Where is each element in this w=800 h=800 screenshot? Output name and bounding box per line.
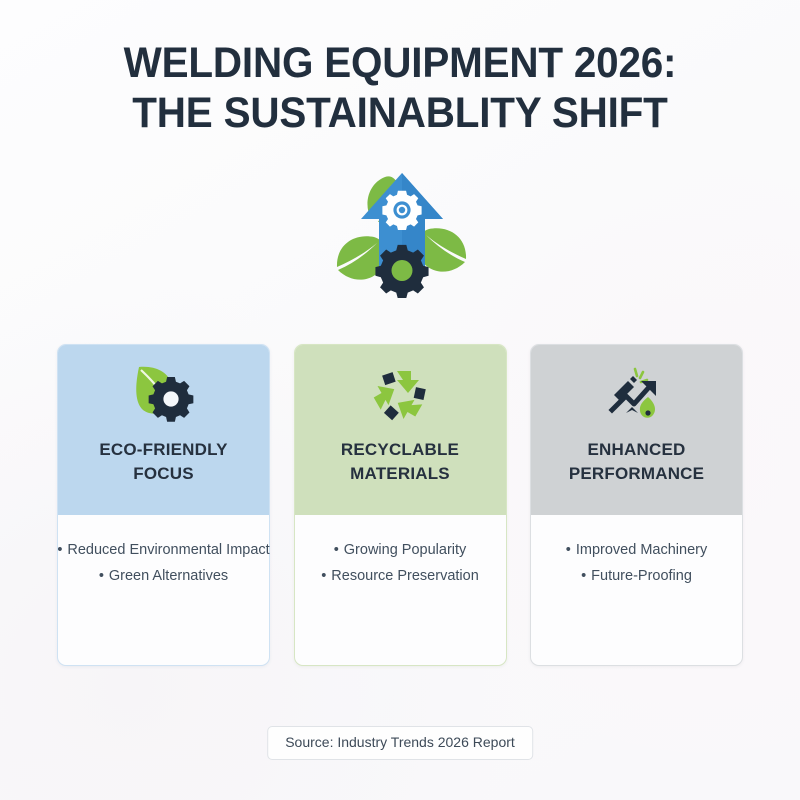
bullet-glyph: • — [99, 568, 104, 584]
bullet-glyph: • — [57, 542, 62, 558]
card-title-recyclable-materials: RECYCLABLE MATERIALS — [341, 438, 459, 486]
bullet-glyph: • — [566, 542, 571, 558]
list-item: •Future-Proofing — [566, 563, 707, 589]
list-item-label: Improved Machinery — [576, 542, 707, 558]
list-item-label: Growing Popularity — [344, 542, 467, 558]
card-title-line-1: ECO-FRIENDLY — [99, 438, 227, 462]
card-recyclable-materials[interactable]: RECYCLABLE MATERIALS •Growing Popularity… — [294, 344, 507, 666]
source-badge: Source: Industry Trends 2026 Report — [267, 726, 533, 760]
card-title-line-2: FOCUS — [99, 462, 227, 486]
card-eco-friendly-focus[interactable]: ECO-FRIENDLY FOCUS •Reduced Environmenta… — [57, 344, 270, 666]
list-item-label: Future-Proofing — [591, 568, 692, 584]
recycle-symbol-icon — [367, 363, 433, 425]
card-title-line-2: PERFORMANCE — [569, 462, 704, 486]
list-item: •Green Alternatives — [57, 563, 269, 589]
bullet-list-enhanced-performance: •Improved Machinery •Future-Proofing — [566, 537, 707, 589]
bullet-glyph: • — [321, 568, 326, 584]
card-title-line-1: ENHANCED — [569, 438, 704, 462]
infographic-canvas: WELDING EQUIPMENT 2026: THE SUSTAINABLIT… — [0, 0, 800, 800]
bullet-list-eco-friendly-focus: •Reduced Environmental Impact •Green Alt… — [57, 537, 269, 589]
page-title-line-2: THE SUSTAINABLITY SHIFT — [24, 88, 776, 138]
card-body-enhanced-performance: •Improved Machinery •Future-Proofing — [531, 515, 742, 665]
list-item-label: Resource Preservation — [331, 568, 479, 584]
card-body-eco-friendly-focus: •Reduced Environmental Impact •Green Alt… — [58, 515, 269, 665]
bullet-list-recyclable-materials: •Growing Popularity •Resource Preservati… — [321, 537, 479, 589]
card-header-eco-friendly-focus: ECO-FRIENDLY FOCUS — [58, 345, 269, 515]
card-body-recyclable-materials: •Growing Popularity •Resource Preservati… — [295, 515, 506, 665]
bullet-glyph: • — [334, 542, 339, 558]
card-title-line-2: MATERIALS — [341, 462, 459, 486]
card-title-eco-friendly-focus: ECO-FRIENDLY FOCUS — [99, 438, 227, 486]
list-item: •Resource Preservation — [321, 563, 479, 589]
rising-trend-leaf-icon — [604, 363, 670, 425]
green-growth-gear-arrow-icon — [325, 163, 480, 313]
list-item: •Improved Machinery — [566, 537, 707, 563]
bullet-glyph: • — [581, 568, 586, 584]
page-title-line-1: WELDING EQUIPMENT 2026: — [24, 38, 776, 88]
feature-card-row: ECO-FRIENDLY FOCUS •Reduced Environmenta… — [57, 344, 743, 666]
page-title: WELDING EQUIPMENT 2026: THE SUSTAINABLIT… — [0, 38, 800, 138]
card-header-enhanced-performance: ENHANCED PERFORMANCE — [531, 345, 742, 515]
card-header-recyclable-materials: RECYCLABLE MATERIALS — [295, 345, 506, 515]
list-item: •Growing Popularity — [321, 537, 479, 563]
list-item-label: Green Alternatives — [109, 568, 228, 584]
list-item: •Reduced Environmental Impact — [57, 537, 269, 563]
list-item-label: Reduced Environmental Impact — [67, 542, 269, 558]
card-enhanced-performance[interactable]: ENHANCED PERFORMANCE •Improved Machinery… — [530, 344, 743, 666]
leaf-gear-icon — [131, 363, 197, 425]
card-title-enhanced-performance: ENHANCED PERFORMANCE — [569, 438, 704, 486]
card-title-line-1: RECYCLABLE — [341, 438, 459, 462]
